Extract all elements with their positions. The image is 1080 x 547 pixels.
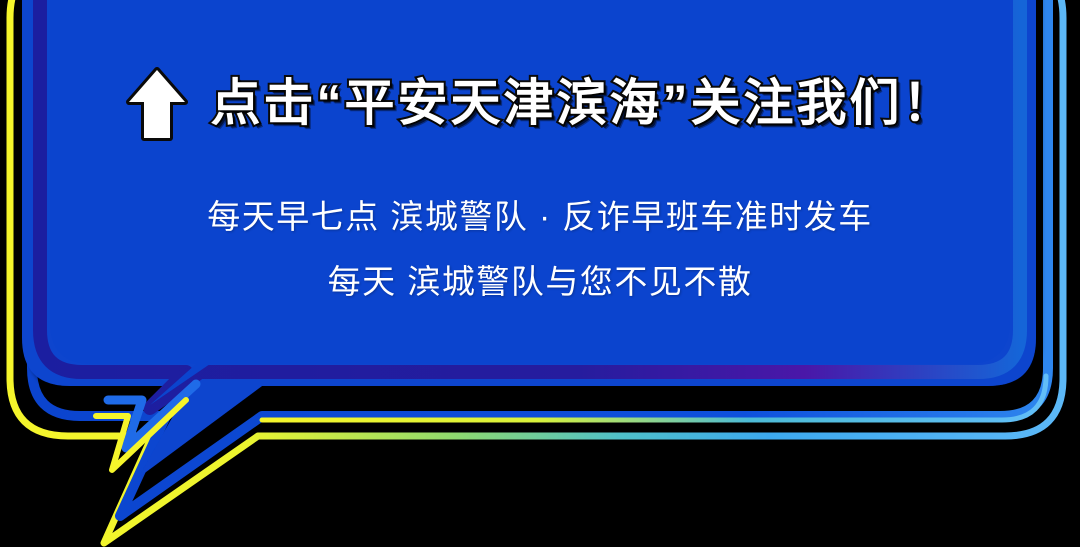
bubble-inner-fill <box>50 0 1010 405</box>
banner-root: 点击“平安天津滨海”关注我们！ 每天早七点 滨城警队 · 反诈早班车准时发车 每… <box>0 0 1080 547</box>
speech-bubble-graphic <box>0 0 1080 547</box>
